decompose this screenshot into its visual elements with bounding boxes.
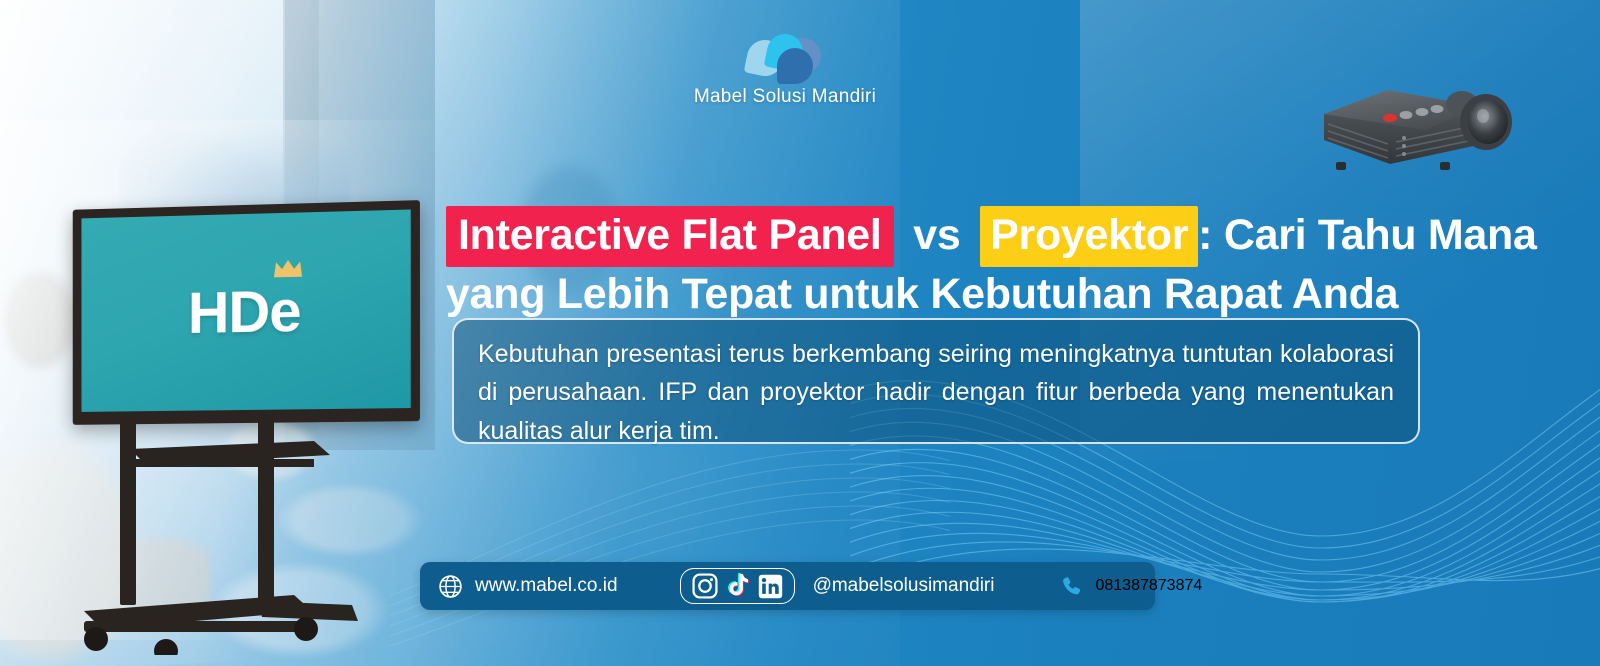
headline-vs: vs xyxy=(913,211,960,259)
screen-logo-text: HDe xyxy=(188,278,301,345)
display-screen: HDe xyxy=(81,209,410,411)
headline-tail: : Cari Tahu Mana xyxy=(1198,211,1536,259)
phone-item[interactable]: 081387873874 xyxy=(1060,575,1202,598)
website-text: www.mabel.co.id xyxy=(475,575,618,597)
crown-icon xyxy=(273,258,303,279)
promo-banner: Mabel Solusi Mandiri xyxy=(0,0,1600,666)
display-bezel: HDe xyxy=(73,200,420,425)
instagram-icon[interactable] xyxy=(691,572,719,600)
headline-line-1: Interactive Flat Panel vs Proyektor: Car… xyxy=(446,208,1506,263)
globe-icon xyxy=(438,574,463,599)
tiktok-icon[interactable] xyxy=(726,572,750,600)
website-item[interactable]: www.mabel.co.id xyxy=(438,574,618,599)
overlapping-leaf-circles-logo-icon xyxy=(747,34,823,80)
description-box: Kebutuhan presentasi terus berkembang se… xyxy=(452,318,1420,444)
screen-logo: HDe xyxy=(188,277,301,346)
headline-line-2: yang Lebih Tepat untuk Kebutuhan Rapat A… xyxy=(446,267,1506,322)
linkedin-icon[interactable] xyxy=(757,573,784,600)
page-title: Interactive Flat Panel vs Proyektor: Car… xyxy=(446,208,1506,321)
social-handle-text: @mabelsolusimandiri xyxy=(813,575,995,597)
headline-highlight-red: Interactive Flat Panel xyxy=(446,206,894,267)
wave-lines-decoration-secondary xyxy=(390,426,950,646)
brand-name: Mabel Solusi Mandiri xyxy=(690,86,880,108)
interactive-flat-panel-display: HDe xyxy=(62,205,422,655)
projector-icon xyxy=(1316,78,1516,178)
contact-bar: www.mabel.co.id @mabelsolusimandiri xyxy=(420,562,1155,610)
social-handle-item[interactable]: @mabelsolusimandiri xyxy=(813,575,995,597)
description-text: Kebutuhan presentasi terus berkembang se… xyxy=(478,335,1394,450)
phone-icon xyxy=(1060,575,1083,598)
phone-text: 081387873874 xyxy=(1095,577,1202,595)
social-icons-group xyxy=(680,568,795,604)
display-cart-stand xyxy=(62,415,422,655)
brand-logo: Mabel Solusi Mandiri xyxy=(690,34,880,108)
headline-highlight-yellow: Proyektor xyxy=(980,206,1198,267)
